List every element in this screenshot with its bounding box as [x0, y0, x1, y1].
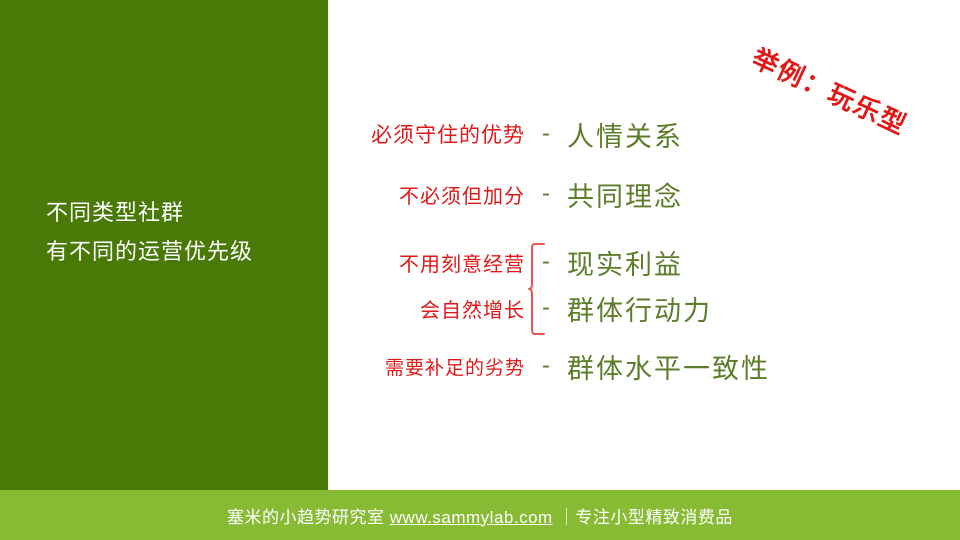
footer-bar: 塞米的小趋势研究室 www.sammylab.com ｜专注小型精致消费品: [0, 490, 960, 540]
row-value-green: 人情关系: [567, 115, 683, 154]
row-value-green: 共同理念: [567, 175, 683, 214]
row-label-red: 不必须但加分: [330, 180, 525, 209]
row-label-red: 会自然增长: [330, 294, 525, 323]
page-title: 不同类型社群 有不同的运营优先级: [46, 193, 316, 271]
slide-canvas: 不同类型社群 有不同的运营优先级 举例：玩乐型 必须守住的优势 - 人情关系 不…: [0, 0, 960, 540]
list-item: 需要补足的劣势 - 群体水平一致性: [330, 344, 960, 388]
row-dash-icon: -: [525, 180, 567, 208]
row-dash-icon: -: [525, 248, 567, 276]
row-value-green: 群体行动力: [567, 289, 712, 328]
footer-prefix: 塞米的小趋势研究室: [227, 508, 390, 527]
list-item: 不必须但加分 - 共同理念: [330, 172, 960, 216]
list-item: 必须守住的优势 - 人情关系: [330, 112, 960, 156]
list-item: 不用刻意经营 - 现实利益: [330, 240, 960, 284]
row-dash-icon: -: [525, 120, 567, 148]
content-rows: 必须守住的优势 - 人情关系 不必须但加分 - 共同理念 不用刻意经营 - 现实…: [330, 0, 960, 490]
footer-text: 塞米的小趋势研究室 www.sammylab.com ｜专注小型精致消费品: [227, 503, 733, 528]
row-dash-icon: -: [525, 352, 567, 380]
row-label-red: 需要补足的劣势: [330, 353, 525, 380]
list-item: 会自然增长 - 群体行动力: [330, 286, 960, 330]
row-label-red: 不用刻意经营: [330, 248, 525, 277]
footer-url-link[interactable]: www.sammylab.com: [390, 508, 553, 527]
row-value-green: 现实利益: [567, 243, 683, 282]
row-dash-icon: -: [525, 294, 567, 322]
row-value-green: 群体水平一致性: [567, 347, 770, 386]
left-green-panel: 不同类型社群 有不同的运营优先级: [0, 0, 328, 490]
footer-suffix: ｜专注小型精致消费品: [553, 508, 733, 527]
row-label-red: 必须守住的优势: [330, 119, 525, 149]
